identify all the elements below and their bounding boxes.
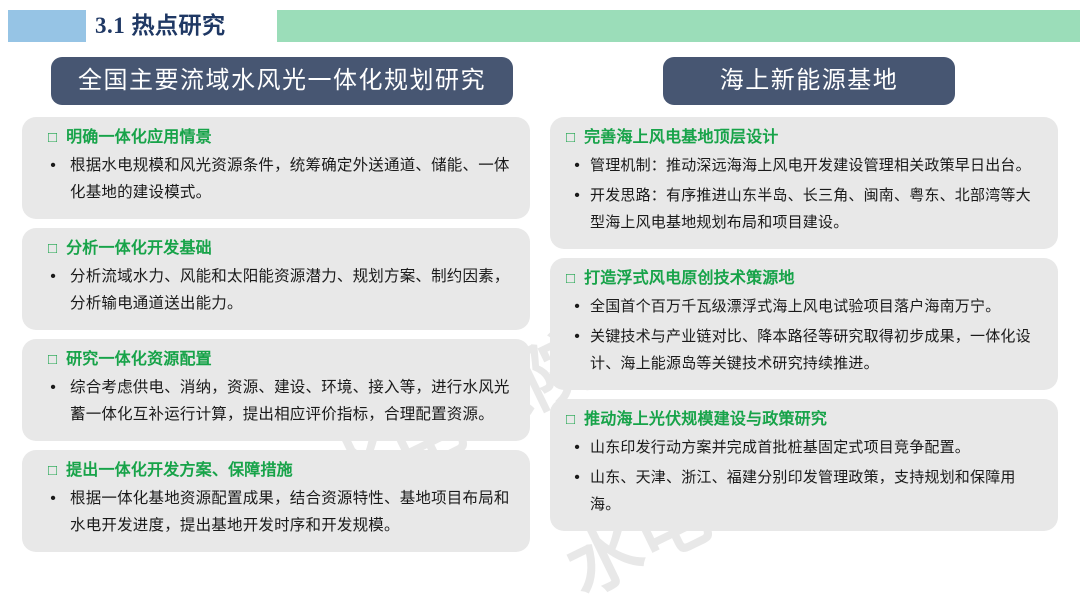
square-bullet-icon: □ <box>48 463 57 478</box>
page-title: 3.1 热点研究 <box>95 10 226 42</box>
bullet-dot-icon: • <box>564 434 590 461</box>
right-column: 海上新能源基地 □完善海上风电基地顶层设计•管理机制：推动深远海海上风电开发建设… <box>550 48 1068 608</box>
bullet-dot-icon: • <box>36 152 70 179</box>
left-column: 全国主要流域水风光一体化规划研究 □明确一体化应用情景•根据水电规模和风光资源条… <box>22 48 542 608</box>
bullet-text: 山东印发行动方案并完成首批桩基固定式项目竞争配置。 <box>590 434 1044 461</box>
bullet-dot-icon: • <box>36 263 70 290</box>
bullet-dot-icon: • <box>564 182 590 209</box>
bullet-dot-icon: • <box>564 323 590 350</box>
content-card: □提出一体化开发方案、保障措施•根据一体化基地资源配置成果，结合资源特性、基地项… <box>22 450 530 552</box>
square-bullet-icon: □ <box>566 271 575 286</box>
bullet-item: •根据水电规模和风光资源条件，统筹确定外送通道、储能、一体化基地的建设模式。 <box>36 152 516 206</box>
card-heading: □完善海上风电基地顶层设计 <box>566 128 1044 148</box>
bullet-item: •全国首个百万千瓦级漂浮式海上风电试验项目落户海南万宁。 <box>564 293 1044 320</box>
card-heading: □研究一体化资源配置 <box>48 350 516 370</box>
content-card: □完善海上风电基地顶层设计•管理机制：推动深远海海上风电开发建设管理相关政策早日… <box>550 117 1058 249</box>
bullet-text: 综合考虑供电、消纳，资源、建设、环境、接入等，进行水风光蓄一体化互补运行计算，提… <box>70 374 516 428</box>
card-heading-label: 打造浮式风电原创技术策源地 <box>584 269 795 289</box>
section-banner-right-label: 海上新能源基地 <box>720 69 899 93</box>
bullet-item: •根据一体化基地资源配置成果，结合资源特性、基地项目布局和水电开发进度，提出基地… <box>36 485 516 539</box>
right-card-list: □完善海上风电基地顶层设计•管理机制：推动深远海海上风电开发建设管理相关政策早日… <box>550 117 1068 531</box>
bullet-text: 根据一体化基地资源配置成果，结合资源特性、基地项目布局和水电开发进度，提出基地开… <box>70 485 516 539</box>
bullet-dot-icon: • <box>564 293 590 320</box>
content-card: □推动海上光伏规模建设与政策研究•山东印发行动方案并完成首批桩基固定式项目竞争配… <box>550 399 1058 531</box>
bullet-list: •综合考虑供电、消纳，资源、建设、环境、接入等，进行水风光蓄一体化互补运行计算，… <box>36 374 516 428</box>
bullet-list: •管理机制：推动深远海海上风电开发建设管理相关政策早日出台。•开发思路：有序推进… <box>564 152 1044 236</box>
bullet-text: 全国首个百万千瓦级漂浮式海上风电试验项目落户海南万宁。 <box>590 293 1044 320</box>
bullet-item: •分析流域水力、风能和太阳能资源潜力、规划方案、制约因素，分析输电通道送出能力。 <box>36 263 516 317</box>
blue-accent-block <box>8 10 86 42</box>
bullet-text: 根据水电规模和风光资源条件，统筹确定外送通道、储能、一体化基地的建设模式。 <box>70 152 516 206</box>
square-bullet-icon: □ <box>566 130 575 145</box>
card-heading-label: 研究一体化资源配置 <box>66 350 212 370</box>
bullet-text: 山东、天津、浙江、福建分别印发管理政策，支持规划和保障用海。 <box>590 464 1044 518</box>
card-heading: □打造浮式风电原创技术策源地 <box>566 269 1044 289</box>
section-banner-right: 海上新能源基地 <box>663 57 955 105</box>
bullet-item: •关键技术与产业链对比、降本路径等研究取得初步成果，一体化设计、海上能源岛等关键… <box>564 323 1044 377</box>
card-heading: □明确一体化应用情景 <box>48 128 516 148</box>
card-heading: □提出一体化开发方案、保障措施 <box>48 461 516 481</box>
bullet-item: •山东印发行动方案并完成首批桩基固定式项目竞争配置。 <box>564 434 1044 461</box>
slide-body: 全国主要流域水风光一体化规划研究 □明确一体化应用情景•根据水电规模和风光资源条… <box>0 48 1080 608</box>
bullet-dot-icon: • <box>564 152 590 179</box>
bullet-list: •根据一体化基地资源配置成果，结合资源特性、基地项目布局和水电开发进度，提出基地… <box>36 485 516 539</box>
content-card: □打造浮式风电原创技术策源地•全国首个百万千瓦级漂浮式海上风电试验项目落户海南万… <box>550 258 1058 390</box>
bullet-text: 分析流域水力、风能和太阳能资源潜力、规划方案、制约因素，分析输电通道送出能力。 <box>70 263 516 317</box>
left-card-list: □明确一体化应用情景•根据水电规模和风光资源条件，统筹确定外送通道、储能、一体化… <box>22 117 542 552</box>
square-bullet-icon: □ <box>48 130 57 145</box>
bullet-text: 开发思路：有序推进山东半岛、长三角、闽南、粤东、北部湾等大型海上风电基地规划布局… <box>590 182 1044 236</box>
card-heading-label: 分析一体化开发基础 <box>66 239 212 259</box>
square-bullet-icon: □ <box>566 412 575 427</box>
card-heading-label: 明确一体化应用情景 <box>66 128 212 148</box>
bullet-text: 管理机制：推动深远海海上风电开发建设管理相关政策早日出台。 <box>590 152 1044 179</box>
bullet-list: •分析流域水力、风能和太阳能资源潜力、规划方案、制约因素，分析输电通道送出能力。 <box>36 263 516 317</box>
content-card: □分析一体化开发基础•分析流域水力、风能和太阳能资源潜力、规划方案、制约因素，分… <box>22 228 530 330</box>
bullet-dot-icon: • <box>564 464 590 491</box>
bullet-text: 关键技术与产业链对比、降本路径等研究取得初步成果，一体化设计、海上能源岛等关键技… <box>590 323 1044 377</box>
card-heading-label: 推动海上光伏规模建设与政策研究 <box>584 410 827 430</box>
bullet-dot-icon: • <box>36 485 70 512</box>
bullet-item: •综合考虑供电、消纳，资源、建设、环境、接入等，进行水风光蓄一体化互补运行计算，… <box>36 374 516 428</box>
square-bullet-icon: □ <box>48 352 57 367</box>
square-bullet-icon: □ <box>48 241 57 256</box>
section-banner-left: 全国主要流域水风光一体化规划研究 <box>51 57 513 105</box>
bullet-list: •山东印发行动方案并完成首批桩基固定式项目竞争配置。•山东、天津、浙江、福建分别… <box>564 434 1044 518</box>
content-card: □研究一体化资源配置•综合考虑供电、消纳，资源、建设、环境、接入等，进行水风光蓄… <box>22 339 530 441</box>
slide-header: 3.1 热点研究 <box>0 0 1080 48</box>
green-accent-bar <box>277 10 1080 42</box>
bullet-item: •开发思路：有序推进山东半岛、长三角、闽南、粤东、北部湾等大型海上风电基地规划布… <box>564 182 1044 236</box>
card-heading-label: 完善海上风电基地顶层设计 <box>584 128 778 148</box>
bullet-dot-icon: • <box>36 374 70 401</box>
card-heading: □分析一体化开发基础 <box>48 239 516 259</box>
bullet-list: •全国首个百万千瓦级漂浮式海上风电试验项目落户海南万宁。•关键技术与产业链对比、… <box>564 293 1044 377</box>
card-heading-label: 提出一体化开发方案、保障措施 <box>66 461 293 481</box>
card-heading: □推动海上光伏规模建设与政策研究 <box>566 410 1044 430</box>
bullet-item: •管理机制：推动深远海海上风电开发建设管理相关政策早日出台。 <box>564 152 1044 179</box>
section-banner-left-label: 全国主要流域水风光一体化规划研究 <box>78 69 486 93</box>
bullet-list: •根据水电规模和风光资源条件，统筹确定外送通道、储能、一体化基地的建设模式。 <box>36 152 516 206</box>
content-card: □明确一体化应用情景•根据水电规模和风光资源条件，统筹确定外送通道、储能、一体化… <box>22 117 530 219</box>
bullet-item: •山东、天津、浙江、福建分别印发管理政策，支持规划和保障用海。 <box>564 464 1044 518</box>
